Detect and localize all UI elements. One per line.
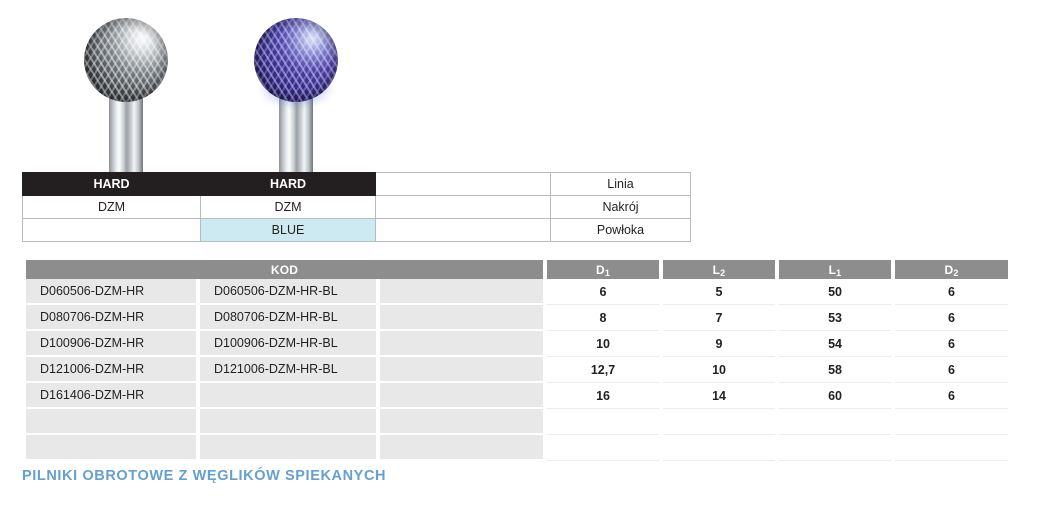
cell-kod-third [380,409,543,435]
header-base-d1: D [596,263,605,277]
spec-cell-nakroj-2: DZM [201,196,376,219]
cell-d1: 8 [547,305,659,331]
product-image-hard [56,0,196,178]
cell-kod-third [380,331,543,357]
spec-label-linia: Linia [551,173,691,196]
header-sub-l1: 1 [836,268,841,278]
header-sub-l2: 2 [720,268,725,278]
column-header-d1: D1 [547,260,659,279]
table-row[interactable]: D121006-DZM-HR D121006-DZM-HR-BL 12,7 10… [26,357,1008,383]
spec-cell-powloka-3 [376,219,551,242]
cell-l2: 10 [663,357,775,383]
cell-l2 [663,435,775,461]
spec-cell-powloka-1 [23,219,201,242]
specification-table: HARD HARD Linia DZM DZM Nakrój BLUE Powł… [22,172,691,242]
cell-l2: 14 [663,383,775,409]
cell-d2: 6 [895,383,1008,409]
spec-cell-linia-3 [376,173,551,196]
cell-l1: 53 [779,305,891,331]
cell-d1 [547,435,659,461]
table-row[interactable]: D161406-DZM-HR 16 14 60 6 [26,383,1008,409]
cell-kod-third [380,435,543,461]
cell-kod-hard: D100906-DZM-HR [26,331,196,357]
spec-cell-nakroj-3 [376,196,551,219]
cell-d1: 6 [547,279,659,305]
cell-kod-blue [200,383,376,409]
cell-d2: 6 [895,279,1008,305]
spec-cell-nakroj-1: DZM [23,196,201,219]
cell-d2 [895,409,1008,435]
cell-kod-third [380,357,543,383]
cell-d1 [547,409,659,435]
table-row [26,409,1008,435]
cell-d2: 6 [895,331,1008,357]
burr-ball-head [84,18,168,102]
spec-label-nakroj: Nakrój [551,196,691,219]
cell-kod-third [380,383,543,409]
cell-l2: 9 [663,331,775,357]
header-sub-d1: 1 [605,268,610,278]
table-row [26,435,1008,461]
cell-d2: 6 [895,305,1008,331]
burr-ball-head [254,18,338,102]
header-base-d2: D [944,263,953,277]
data-table-header-row: KOD D1 L2 L1 D2 [26,260,1008,279]
cell-kod-hard: D121006-DZM-HR [26,357,196,383]
column-header-l1: L1 [779,260,891,279]
cell-l1: 60 [779,383,891,409]
page-title: PILNIKI OBROTOWE Z WĘGLIKÓW SPIEKANYCH [22,468,386,484]
cell-d2 [895,435,1008,461]
ball-shading [254,18,338,102]
cell-kod-hard: D060506-DZM-HR [26,279,196,305]
cell-l1 [779,409,891,435]
cell-kod-hard: D080706-DZM-HR [26,305,196,331]
cell-kod-hard: D161406-DZM-HR [26,383,196,409]
table-row[interactable]: D080706-DZM-HR D080706-DZM-HR-BL 8 7 53 … [26,305,1008,331]
cell-l2 [663,409,775,435]
cell-d1: 16 [547,383,659,409]
cell-kod-blue: D121006-DZM-HR-BL [200,357,376,383]
product-image-hard-blue [226,0,366,178]
table-row[interactable]: D060506-DZM-HR D060506-DZM-HR-BL 6 5 50 … [26,279,1008,305]
header-sub-d2: 2 [953,268,958,278]
cell-d1: 12,7 [547,357,659,383]
cell-d1: 10 [547,331,659,357]
cell-kod-third [380,279,543,305]
spec-cell-linia-2: HARD [201,173,376,196]
cell-kod-hard [26,409,196,435]
cell-l2: 5 [663,279,775,305]
spec-cell-powloka-2: BLUE [201,219,376,242]
cell-kod-blue: D100906-DZM-HR-BL [200,331,376,357]
spec-label-powloka: Powłoka [551,219,691,242]
cell-kod-third [380,305,543,331]
column-header-kod: KOD [26,260,543,279]
cell-kod-blue: D080706-DZM-HR-BL [200,305,376,331]
cell-l2: 7 [663,305,775,331]
cell-kod-blue [200,409,376,435]
spec-row-nakroj: DZM DZM Nakrój [23,196,691,219]
cell-d2: 6 [895,357,1008,383]
column-header-d2: D2 [895,260,1008,279]
cell-l1: 50 [779,279,891,305]
spec-cell-linia-1: HARD [23,173,201,196]
spec-row-powloka: BLUE Powłoka [23,219,691,242]
cell-l1 [779,435,891,461]
spec-row-linia: HARD HARD Linia [23,173,691,196]
cell-kod-blue [200,435,376,461]
ball-shading [84,18,168,102]
column-header-l2: L2 [663,260,775,279]
cell-kod-blue: D060506-DZM-HR-BL [200,279,376,305]
cell-kod-hard [26,435,196,461]
cell-l1: 58 [779,357,891,383]
table-row[interactable]: D100906-DZM-HR D100906-DZM-HR-BL 10 9 54… [26,331,1008,357]
cell-l1: 54 [779,331,891,357]
product-data-table: KOD D1 L2 L1 D2 D060506-DZM-HR D060506-D… [22,260,1012,461]
